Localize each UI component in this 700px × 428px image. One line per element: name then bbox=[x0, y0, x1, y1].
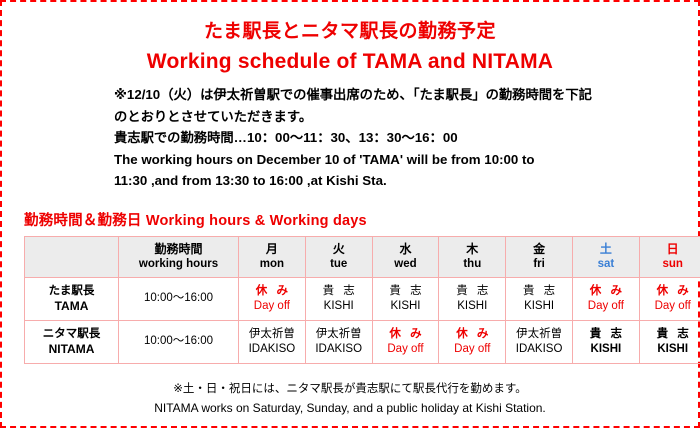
table-row: たま駅長 TAMA 10:00〜16:00 休 み Day off 貴 志 KI… bbox=[25, 277, 700, 320]
cell-tama-wed-en: KISHI bbox=[374, 299, 438, 314]
notice-line-4: The working hours on December 10 of 'TAM… bbox=[114, 149, 614, 171]
header-thu-jp: 木 bbox=[440, 242, 504, 257]
footer-note: ※土・日・祝日には、ニタマ駅長が貴志駅にて駅長代行を勤めます。 NITAMA w… bbox=[2, 380, 698, 418]
cell-nitama-tue-jp: 伊太祈曽 bbox=[307, 327, 371, 342]
notice-line-3: 貴志駅での勤務時間…10：00〜11：30、13：30〜16：00 bbox=[114, 127, 614, 149]
cell-tama-mon-en: Day off bbox=[240, 299, 304, 314]
header-sat-jp: 土 bbox=[574, 242, 638, 257]
title-block: たま駅長とニタマ駅長の勤務予定 Working schedule of TAMA… bbox=[2, 2, 698, 75]
cell-tama-sat-en: Day off bbox=[574, 299, 638, 314]
header-tue-en: tue bbox=[307, 257, 371, 272]
header-tue-jp: 火 bbox=[307, 242, 371, 257]
cell-tama-wed-jp: 貴 志 bbox=[374, 284, 438, 299]
footer-note-en: NITAMA works on Saturday, Sunday, and a … bbox=[2, 399, 698, 418]
row-tama-hours: 10:00〜16:00 bbox=[119, 277, 239, 320]
row-nitama-hours: 10:00〜16:00 bbox=[119, 320, 239, 363]
notice-line-1: ※12/10（火）は伊太祈曽駅での催事出席のため、「たま駅長」の勤務時間を下記 bbox=[114, 84, 614, 106]
cell-nitama-thu: 休 み Day off bbox=[439, 320, 506, 363]
header-hours-jp: 勤務時間 bbox=[120, 242, 237, 257]
header-mon-en: mon bbox=[240, 257, 304, 272]
cell-nitama-mon-jp: 伊太祈曽 bbox=[240, 327, 304, 342]
cell-nitama-tue-en: IDAKISO bbox=[307, 342, 371, 357]
cell-nitama-fri-jp: 伊太祈曽 bbox=[507, 327, 571, 342]
cell-tama-tue-jp: 貴 志 bbox=[307, 284, 371, 299]
cell-tama-thu-en: KISHI bbox=[440, 299, 504, 314]
cell-tama-fri-jp: 貴 志 bbox=[507, 284, 571, 299]
cell-tama-sun: 休 み Day off bbox=[639, 277, 700, 320]
cell-nitama-fri-en: IDAKISO bbox=[507, 342, 571, 357]
header-sun-jp: 日 bbox=[641, 242, 700, 257]
section-heading: 勤務時間＆勤務日 Working hours & Working days bbox=[24, 209, 698, 230]
header-cell-mon: 月 mon bbox=[239, 236, 306, 277]
cell-tama-thu-jp: 貴 志 bbox=[440, 284, 504, 299]
cell-nitama-fri: 伊太祈曽 IDAKISO bbox=[506, 320, 573, 363]
row-nitama-name: ニタマ駅長 NITAMA bbox=[25, 320, 119, 363]
tama-name-jp: たま駅長 bbox=[26, 284, 117, 299]
cell-nitama-mon-en: IDAKISO bbox=[240, 342, 304, 357]
cell-tama-wed: 貴 志 KISHI bbox=[372, 277, 439, 320]
cell-tama-sun-jp: 休 み bbox=[641, 284, 700, 299]
cell-tama-tue: 貴 志 KISHI bbox=[305, 277, 372, 320]
page-title-english: Working schedule of TAMA and NITAMA bbox=[2, 48, 698, 75]
cell-nitama-mon: 伊太祈曽 IDAKISO bbox=[239, 320, 306, 363]
cell-nitama-sun: 貴 志 KISHI bbox=[639, 320, 700, 363]
notice-line-2: のとおりとさせていただきます。 bbox=[114, 106, 614, 128]
header-sat-en: sat bbox=[574, 257, 638, 272]
page-title-japanese: たま駅長とニタマ駅長の勤務予定 bbox=[2, 20, 698, 44]
row-tama-name: たま駅長 TAMA bbox=[25, 277, 119, 320]
nitama-name-en: NITAMA bbox=[26, 342, 117, 357]
header-wed-en: wed bbox=[374, 257, 438, 272]
cell-tama-fri-en: KISHI bbox=[507, 299, 571, 314]
cell-nitama-thu-en: Day off bbox=[440, 342, 504, 357]
cell-nitama-sat-en: KISHI bbox=[574, 342, 638, 357]
cell-nitama-sun-en: KISHI bbox=[641, 342, 700, 357]
cell-tama-sat-jp: 休 み bbox=[574, 284, 638, 299]
cell-nitama-wed-en: Day off bbox=[374, 342, 438, 357]
footer-note-jp: ※土・日・祝日には、ニタマ駅長が貴志駅にて駅長代行を勤めます。 bbox=[2, 380, 698, 399]
table-header-row: 勤務時間 working hours 月 mon 火 tue 水 wed 木 bbox=[25, 236, 700, 277]
header-fri-en: fri bbox=[507, 257, 571, 272]
cell-nitama-sun-jp: 貴 志 bbox=[641, 327, 700, 342]
header-wed-jp: 水 bbox=[374, 242, 438, 257]
cell-nitama-wed: 休 み Day off bbox=[372, 320, 439, 363]
notice-line-5: 11:30 ,and from 13:30 to 16:00 ,at Kishi… bbox=[114, 170, 614, 192]
nitama-name-jp: ニタマ駅長 bbox=[26, 327, 117, 342]
header-cell-wed: 水 wed bbox=[372, 236, 439, 277]
header-cell-working-hours: 勤務時間 working hours bbox=[119, 236, 239, 277]
header-cell-sun: 日 sun bbox=[639, 236, 700, 277]
cell-tama-mon: 休 み Day off bbox=[239, 277, 306, 320]
cell-tama-thu: 貴 志 KISHI bbox=[439, 277, 506, 320]
cell-nitama-sat-jp: 貴 志 bbox=[574, 327, 638, 342]
cell-nitama-tue: 伊太祈曽 IDAKISO bbox=[305, 320, 372, 363]
cell-tama-fri: 貴 志 KISHI bbox=[506, 277, 573, 320]
header-cell-tue: 火 tue bbox=[305, 236, 372, 277]
header-cell-sat: 土 sat bbox=[572, 236, 639, 277]
table-row: ニタマ駅長 NITAMA 10:00〜16:00 伊太祈曽 IDAKISO 伊太… bbox=[25, 320, 700, 363]
cell-nitama-wed-jp: 休 み bbox=[374, 327, 438, 342]
header-mon-jp: 月 bbox=[240, 242, 304, 257]
notice-block: ※12/10（火）は伊太祈曽駅での催事出席のため、「たま駅長」の勤務時間を下記 … bbox=[114, 84, 614, 192]
schedule-table-body: たま駅長 TAMA 10:00〜16:00 休 み Day off 貴 志 KI… bbox=[25, 277, 700, 363]
header-thu-en: thu bbox=[440, 257, 504, 272]
header-hours-en: working hours bbox=[120, 257, 237, 272]
schedule-table: 勤務時間 working hours 月 mon 火 tue 水 wed 木 bbox=[24, 236, 700, 364]
header-cell-thu: 木 thu bbox=[439, 236, 506, 277]
poster-page: たま駅長とニタマ駅長の勤務予定 Working schedule of TAMA… bbox=[0, 0, 700, 428]
header-cell-fri: 金 fri bbox=[506, 236, 573, 277]
schedule-table-header: 勤務時間 working hours 月 mon 火 tue 水 wed 木 bbox=[25, 236, 700, 277]
header-sun-en: sun bbox=[641, 257, 700, 272]
header-cell-blank bbox=[25, 236, 119, 277]
cell-tama-mon-jp: 休 み bbox=[240, 284, 304, 299]
header-fri-jp: 金 bbox=[507, 242, 571, 257]
tama-name-en: TAMA bbox=[26, 299, 117, 314]
cell-tama-sat: 休 み Day off bbox=[572, 277, 639, 320]
cell-nitama-sat: 貴 志 KISHI bbox=[572, 320, 639, 363]
cell-tama-sun-en: Day off bbox=[641, 299, 700, 314]
cell-nitama-thu-jp: 休 み bbox=[440, 327, 504, 342]
cell-tama-tue-en: KISHI bbox=[307, 299, 371, 314]
